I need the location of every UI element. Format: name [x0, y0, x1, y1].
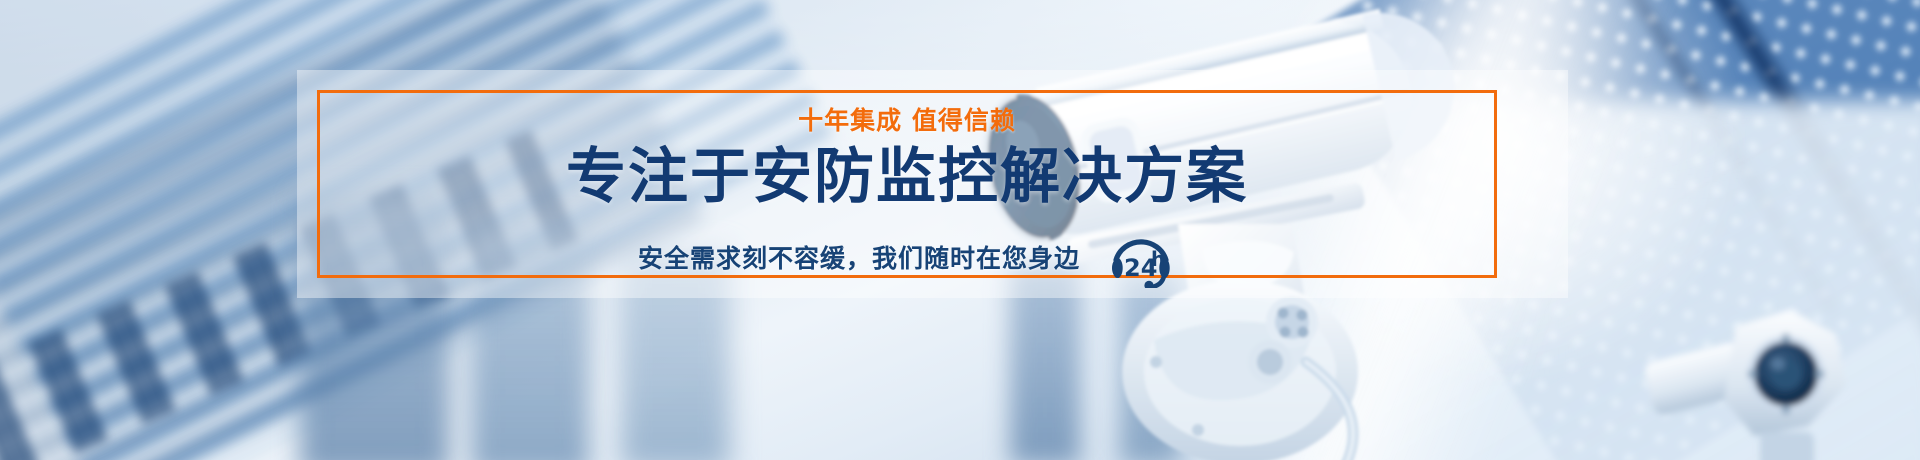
hero-banner: 十年集成 值得信赖 专注于安防监控解决方案 安全需求刻不容缓，我们随时在您身边 [0, 0, 1920, 460]
banner-subrow: 安全需求刻不容缓，我们随时在您身边 24 h [638, 226, 1176, 292]
svg-text:h: h [1151, 247, 1165, 271]
banner-subtext: 安全需求刻不容缓，我们随时在您身边 [638, 246, 1080, 271]
banner-eyebrow: 十年集成 值得信赖 [798, 108, 1016, 133]
cctv-camera-small-icon [1640, 290, 1920, 460]
banner-text-block: 十年集成 值得信赖 专注于安防监控解决方案 安全需求刻不容缓，我们随时在您身边 [317, 90, 1497, 278]
banner-headline: 专注于安防监控解决方案 [566, 145, 1248, 210]
headset-24h-icon: 24 h [1106, 226, 1176, 292]
